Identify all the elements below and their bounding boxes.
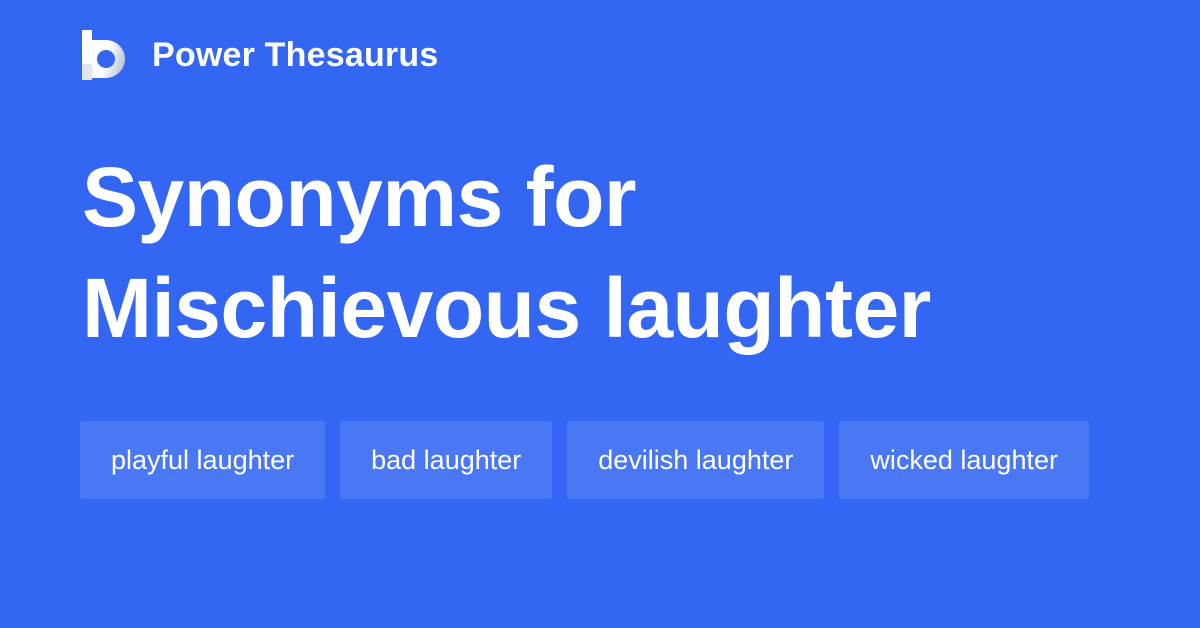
page-title-line-1: Synonyms for (82, 142, 931, 253)
page-title: Synonyms for Mischievous laughter (82, 142, 931, 364)
synonym-chip[interactable]: bad laughter (340, 421, 552, 499)
synonym-chip[interactable]: playful laughter (80, 421, 325, 499)
power-thesaurus-b-logo-icon (80, 28, 128, 82)
brand-header[interactable]: Power Thesaurus (80, 28, 438, 82)
brand-name: Power Thesaurus (152, 38, 438, 72)
synonym-chip[interactable]: devilish laughter (567, 421, 824, 499)
page-title-line-2: Mischievous laughter (82, 253, 931, 364)
synonym-chip-list: playful laughter bad laughter devilish l… (80, 421, 1130, 499)
synonym-chip[interactable]: wicked laughter (839, 421, 1089, 499)
